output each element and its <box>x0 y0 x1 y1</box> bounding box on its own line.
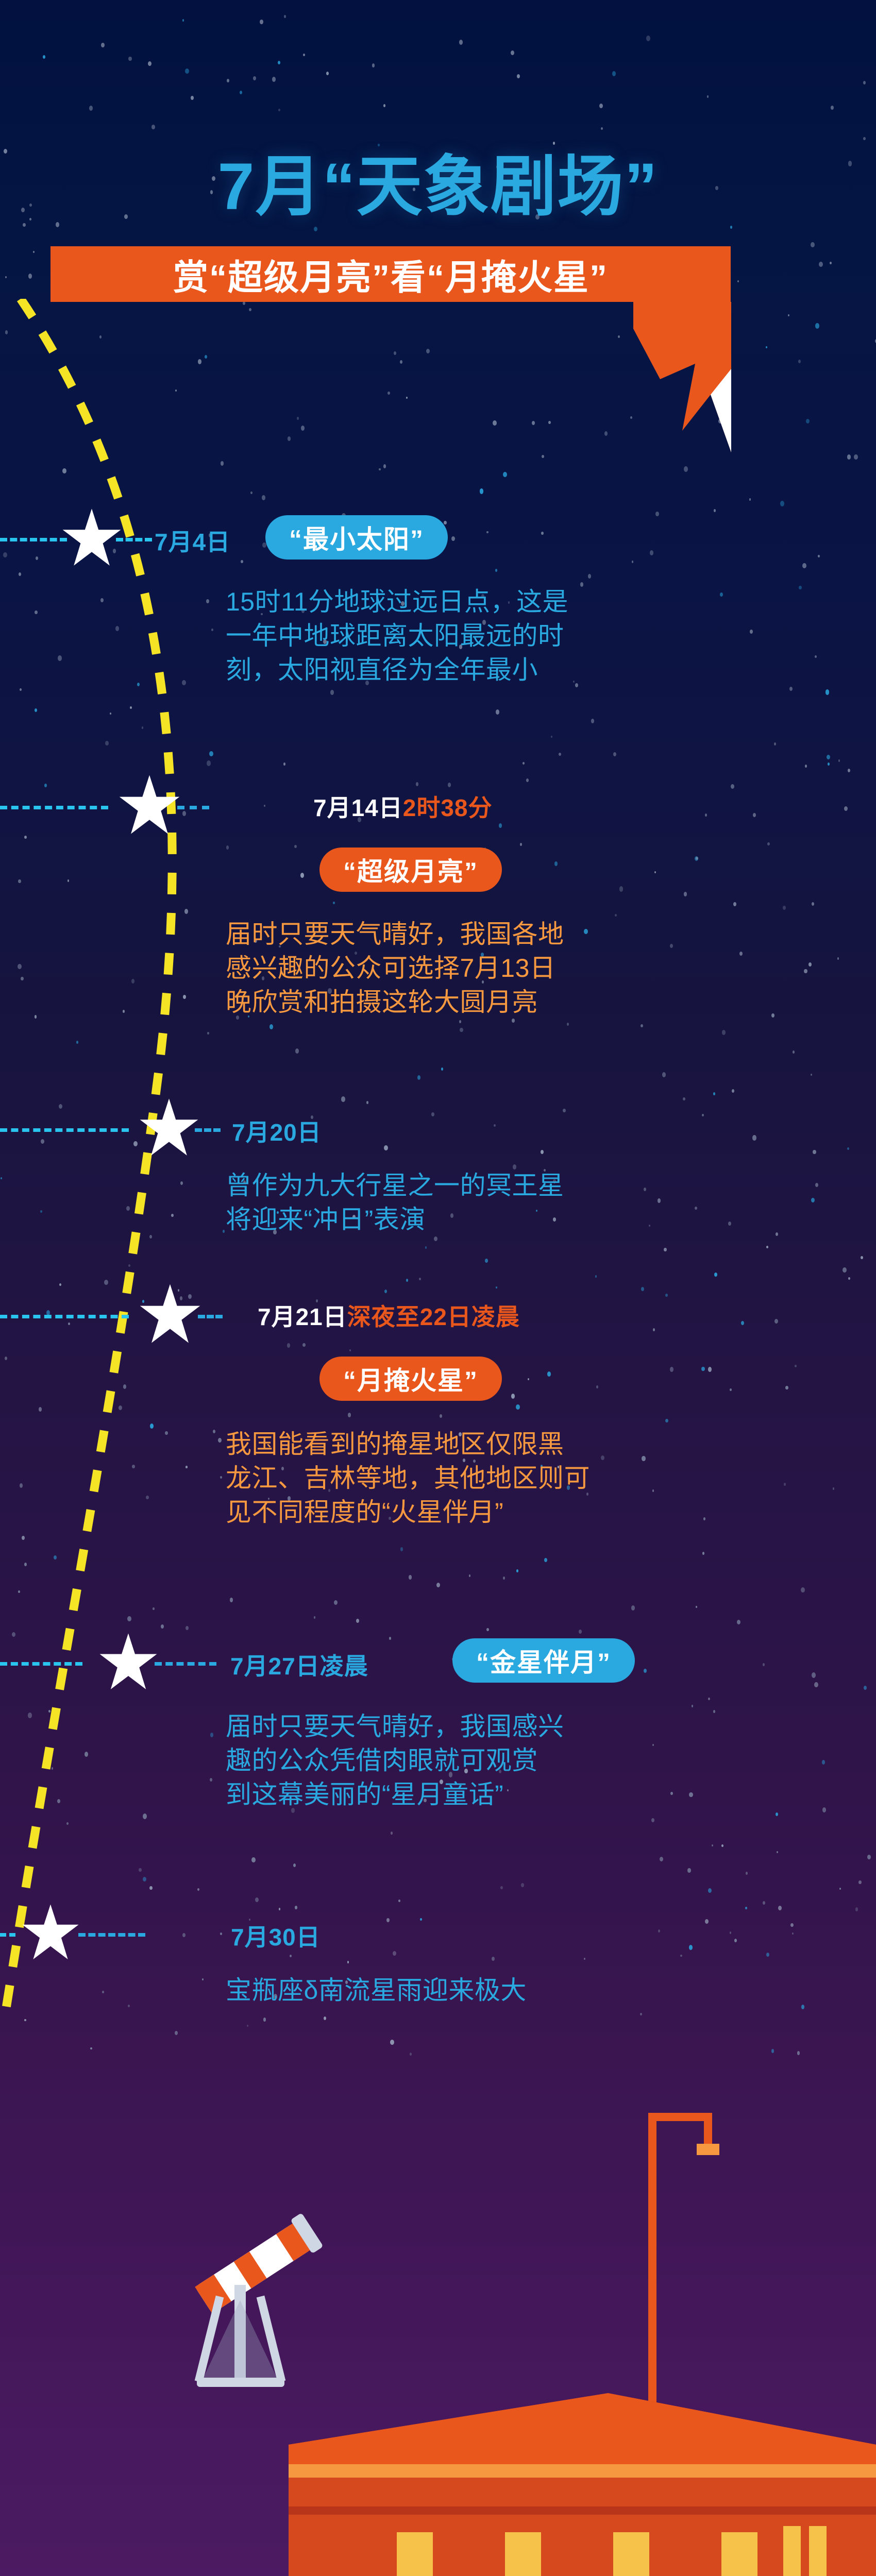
star-dot <box>737 1620 740 1624</box>
subtitle-ribbon: 赏“超级月亮”看“月掩火星” <box>50 246 731 302</box>
connector-line-right <box>177 806 209 809</box>
star-icon <box>61 507 123 569</box>
star-dot <box>551 736 552 738</box>
star-icon <box>21 1903 80 1963</box>
event-date: 7月14日2时38分 <box>313 789 493 823</box>
observatory-building-icon <box>0 2393 876 2576</box>
event-description: 曾作为九大行星之一的冥王星 将迎来“冲日”表演 <box>226 1168 715 1236</box>
timeline-row: 7月20日 曾作为九大行星之一的冥王星 将迎来“冲日”表演 <box>0 1092 876 1267</box>
star-icon <box>98 1632 159 1693</box>
timeline-row: 7月14日2时38分 “超级月亮” 届时只要天气晴好，我国各地 感兴趣的公众可选… <box>0 762 876 1082</box>
star-icon <box>138 1283 202 1347</box>
event-badge[interactable]: “超级月亮” <box>319 848 502 892</box>
header: 7月“天象剧场” 赏“超级月亮”看“月掩火星” <box>0 0 876 505</box>
star-dot <box>838 759 840 761</box>
star-dot <box>356 1619 359 1623</box>
connector-line-right <box>195 1128 221 1132</box>
event-description: 届时只要天气晴好，我国感兴 趣的公众凭借肉眼就可观赏 到这幕美丽的“星月童话” <box>226 1709 715 1811</box>
connector-line-left <box>0 1662 82 1666</box>
telescope-icon <box>193 2213 324 2387</box>
event-badge[interactable]: “金星伴月” <box>452 1638 635 1683</box>
connector-line-right <box>78 1933 145 1937</box>
event-description: 15时11分地球过远日点，这是 一年中地球距离太阳最远的时 刻，太阳视直径为全年… <box>226 585 689 687</box>
event-badge[interactable]: “月掩火星” <box>319 1357 502 1401</box>
subtitle-label: 赏“超级月亮”看“月掩火星” <box>173 249 608 300</box>
star-dot <box>774 742 776 745</box>
event-description: 宝瓶座δ南流星雨迎来极大 <box>226 1973 741 2007</box>
star-dot <box>613 752 616 756</box>
connector-line-right <box>155 1662 216 1666</box>
timeline-row: 7月4日 “最小太阳” 15时11分地球过远日点，这是 一年中地球距离太阳最远的… <box>0 505 876 721</box>
event-description: 我国能看到的掩星地区仅限黑 龙江、吉林等地，其他地区则可 见不同程度的“火星伴月… <box>226 1427 720 1529</box>
connector-line-left <box>0 538 67 541</box>
star-dot <box>843 1267 847 1273</box>
star-dot <box>314 1616 315 1618</box>
connector-line-left <box>0 1933 15 1937</box>
star-dot <box>559 753 561 756</box>
bottom-illustration <box>0 2053 876 2576</box>
event-date: 7月27日凌晨 <box>230 1648 368 1682</box>
event-description: 届时只要天气晴好，我国各地 感兴趣的公众可选择7月13日 晚欣赏和拍摄这轮大圆月… <box>226 917 715 1019</box>
event-date: 7月30日 <box>231 1919 321 1953</box>
timeline-row: 7月30日 宝瓶座δ南流星雨迎来极大 <box>0 1896 876 2050</box>
star-icon <box>138 1097 200 1159</box>
connector-line-right <box>198 1315 223 1318</box>
event-date: 7月4日 <box>155 523 230 557</box>
star-icon <box>117 774 181 838</box>
connector-line-left <box>0 1128 129 1132</box>
ribbon-tail-decoration <box>633 302 731 452</box>
page-title: 7月“天象剧场” <box>0 133 876 228</box>
connector-line-left <box>0 806 108 809</box>
event-date: 7月21日深夜至22日凌晨 <box>258 1298 520 1332</box>
event-date: 7月20日 <box>232 1114 322 1148</box>
timeline-row: 7月27日凌晨 “金星伴月” 届时只要天气晴好，我国感兴 趣的公众凭借肉眼就可观… <box>0 1628 876 1927</box>
connector-line-left <box>0 1315 129 1318</box>
timeline-row: 7月21日深夜至22日凌晨 “月掩火星” 我国能看到的掩星地区仅限黑 龙江、吉林… <box>0 1273 876 1607</box>
star-dot <box>827 755 830 759</box>
event-badge[interactable]: “最小太阳” <box>265 515 448 560</box>
connector-line-right <box>116 538 152 541</box>
